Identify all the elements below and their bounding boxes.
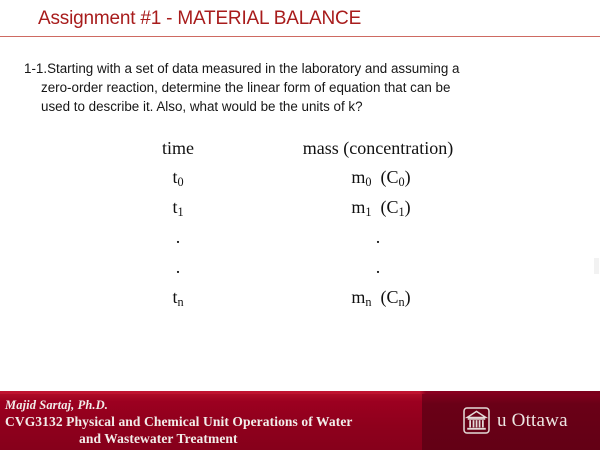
- data-table: time mass (concentration) t0 m0 (C0) t1 …: [90, 134, 490, 312]
- footer-text-block: Majid Sartaj, Ph.D. CVG3132 Physical and…: [5, 398, 425, 447]
- mass-symbol: m: [351, 197, 365, 217]
- mass-subscript: 0: [365, 175, 371, 189]
- column-header-time: time: [90, 134, 266, 162]
- course-title-line-2: and Wastewater Treatment: [5, 430, 425, 447]
- time-subscript: n: [177, 295, 183, 309]
- cell-time-ellipsis: .: [90, 222, 266, 252]
- page-title: Assignment #1 - MATERIAL BALANCE: [38, 8, 361, 30]
- time-subscript: 0: [177, 175, 183, 189]
- university-building-icon: [463, 407, 490, 434]
- conc-symbol: C: [387, 167, 399, 187]
- ellipsis-dot: .: [176, 228, 181, 246]
- cell-mass: m0 (C0): [266, 162, 490, 192]
- mass-subscript: n: [365, 295, 371, 309]
- column-header-mass: mass (concentration): [266, 134, 490, 162]
- ellipsis-dot: .: [376, 258, 381, 276]
- conc-subscript: 1: [399, 205, 405, 219]
- table-header-row: time mass (concentration): [90, 134, 490, 162]
- instructor-name: Majid Sartaj, Ph.D.: [5, 398, 425, 413]
- conc-symbol: C: [387, 197, 399, 217]
- cell-mass-ellipsis: .: [266, 252, 490, 282]
- cell-time: t0: [90, 162, 266, 192]
- title-bar: Assignment #1 - MATERIAL BALANCE: [0, 0, 600, 38]
- cell-mass-ellipsis: .: [266, 222, 490, 252]
- conc-symbol: C: [387, 287, 399, 307]
- cell-mass: mn (Cn): [266, 282, 490, 312]
- table-row: t1 m1 (C1): [90, 192, 490, 222]
- course-title-line-1: CVG3132 Physical and Chemical Unit Opera…: [5, 413, 425, 430]
- cell-mass: m1 (C1): [266, 192, 490, 222]
- cell-time-ellipsis: .: [90, 252, 266, 282]
- cell-time: t1: [90, 192, 266, 222]
- mass-symbol: m: [351, 167, 365, 187]
- cell-time: tn: [90, 282, 266, 312]
- uottawa-wordmark: u Ottawa: [497, 410, 568, 432]
- footer-top-highlight: [0, 391, 600, 394]
- mass-symbol: m: [351, 287, 365, 307]
- conc-subscript: 0: [399, 175, 405, 189]
- title-divider: [0, 36, 600, 37]
- question-line-2: zero-order reaction, determine the linea…: [24, 78, 580, 97]
- table-row-ellipsis: . .: [90, 252, 490, 282]
- question-text: 1-1.Starting with a set of data measured…: [24, 59, 580, 116]
- edge-artifact: [594, 258, 599, 274]
- uottawa-logo: u Ottawa: [463, 407, 568, 434]
- question-line-3: used to describe it. Also, what would be…: [24, 97, 580, 116]
- time-subscript: 1: [177, 205, 183, 219]
- ellipsis-dot: .: [176, 258, 181, 276]
- ellipsis-dot: .: [376, 228, 381, 246]
- question-line-1: 1-1.Starting with a set of data measured…: [24, 59, 580, 78]
- mass-subscript: 1: [365, 205, 371, 219]
- table-row: tn mn (Cn): [90, 282, 490, 312]
- table-row-ellipsis: . .: [90, 222, 490, 252]
- conc-subscript: n: [399, 295, 405, 309]
- table-row: t0 m0 (C0): [90, 162, 490, 192]
- slide-canvas: Assignment #1 - MATERIAL BALANCE 1-1.Sta…: [0, 0, 600, 450]
